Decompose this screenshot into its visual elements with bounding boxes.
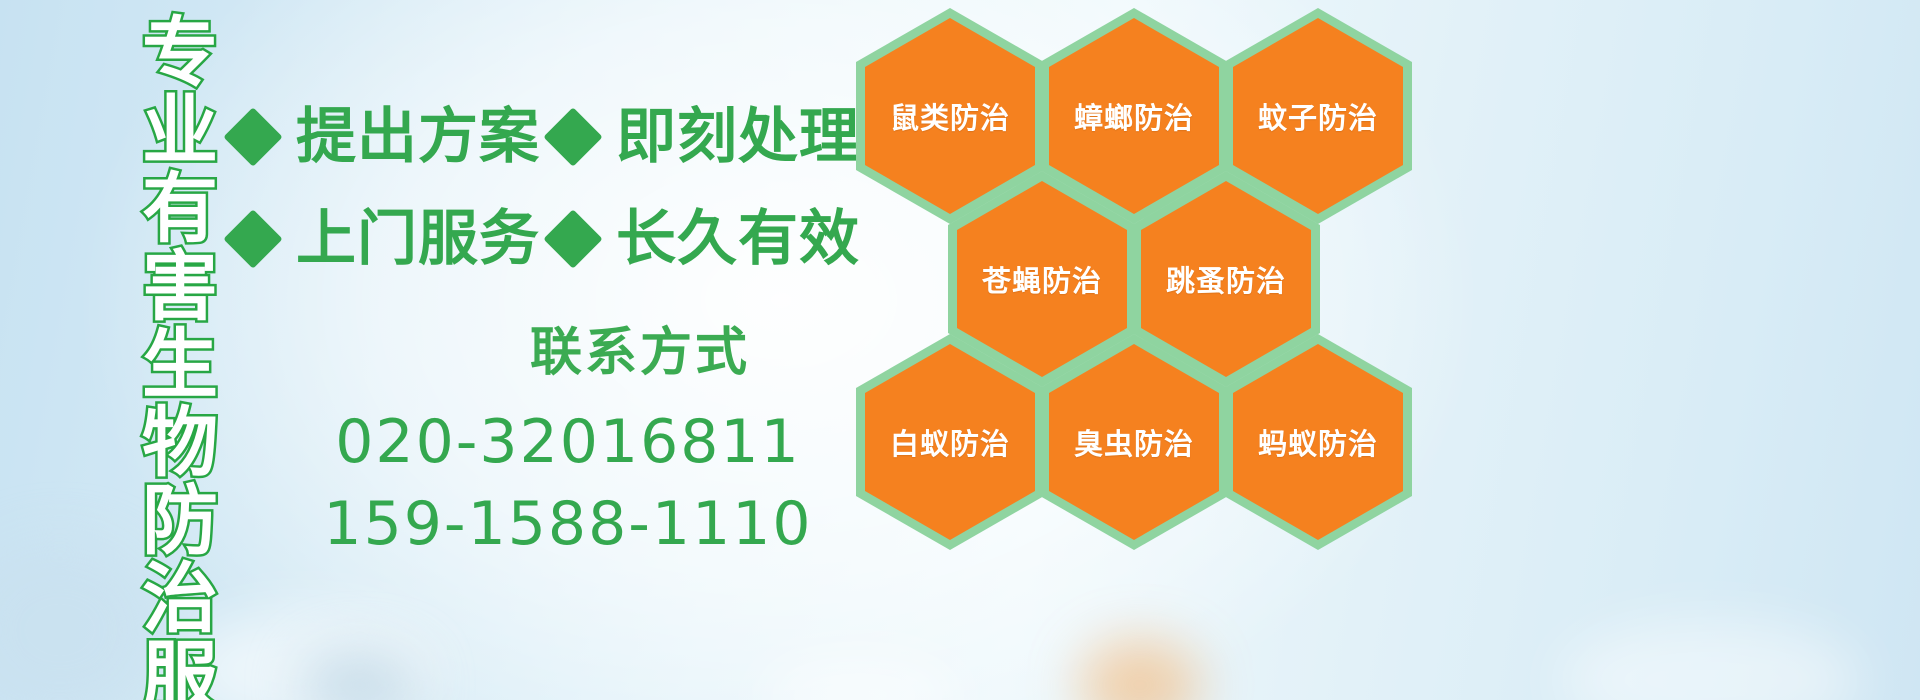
feature-label: 提出方案 [296, 107, 540, 167]
phone-number-landline[interactable]: 020-32016811 [276, 407, 860, 477]
phone-number-mobile[interactable]: 159-1588-1110 [276, 489, 860, 559]
diamond-icon [223, 209, 282, 268]
service-label: 蚂蚁防治 [1224, 334, 1412, 550]
vertical-headline: 专业有害生物防治服务 [108, 12, 212, 700]
feature-item: 上门服务 [232, 209, 552, 269]
feature-row: 上门服务 长久有效 [232, 188, 872, 290]
background-blur-blob [1080, 640, 1200, 700]
background-blur-blob [1560, 620, 1860, 700]
feature-label: 长久有效 [616, 209, 860, 269]
feature-item: 即刻处理 [552, 107, 860, 167]
service-hex-bedbug[interactable]: 臭虫防治 [1040, 334, 1228, 550]
background-blur-blob [760, 655, 960, 700]
diamond-icon [543, 107, 602, 166]
service-honeycomb: 鼠类防治 蟑螂防治 蚊子防治 苍蝇防治 跳蚤防治 白蚁防治 臭虫防治 蚂蚁 [856, 0, 1476, 564]
feature-label: 上门服务 [296, 209, 540, 269]
banner-canvas: 专业有害生物防治服务 提出方案 即刻处理 上门服务 长久有效 联系方式 [0, 0, 1920, 700]
service-label: 白蚁防治 [856, 334, 1044, 550]
background-blur-blob [300, 650, 420, 700]
service-hex-termite[interactable]: 白蚁防治 [856, 334, 1044, 550]
service-label: 臭虫防治 [1040, 334, 1228, 550]
service-hex-ant[interactable]: 蚂蚁防治 [1224, 334, 1412, 550]
diamond-icon [223, 107, 282, 166]
contact-block: 联系方式 020-32016811 159-1588-1110 [240, 310, 860, 559]
feature-label: 即刻处理 [616, 107, 860, 167]
background-blur-blob [180, 610, 440, 700]
feature-row: 提出方案 即刻处理 [232, 86, 872, 188]
diamond-icon [543, 209, 602, 268]
feature-item: 提出方案 [232, 107, 552, 167]
feature-item: 长久有效 [552, 209, 860, 269]
contact-title: 联系方式 [420, 310, 860, 385]
feature-list: 提出方案 即刻处理 上门服务 长久有效 [232, 86, 872, 290]
